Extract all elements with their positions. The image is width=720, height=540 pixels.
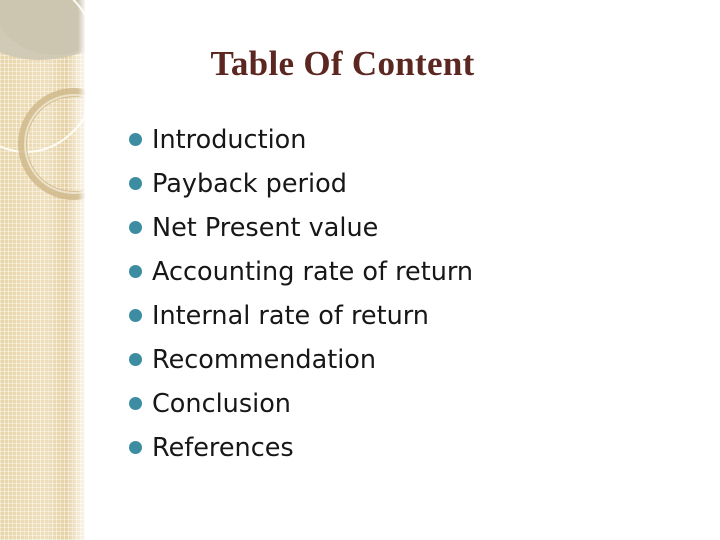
list-item-label: Conclusion	[152, 389, 291, 419]
band-edge-gradient	[78, 0, 85, 540]
page-title: Table Of Content	[85, 44, 720, 84]
bullet-dot-icon	[129, 265, 142, 278]
list-item[interactable]: References	[126, 426, 686, 470]
list-item-label: Introduction	[152, 125, 306, 155]
list-item[interactable]: Conclusion	[126, 382, 686, 426]
bullet-dot-icon	[129, 397, 142, 410]
list-item-label: Internal rate of return	[152, 301, 429, 331]
list-item-label: References	[152, 433, 294, 463]
list-item-label: Recommendation	[152, 345, 376, 375]
bullet-dot-icon	[129, 221, 142, 234]
bullet-dot-icon	[129, 177, 142, 190]
list-item-label: Payback period	[152, 169, 347, 199]
bullet-dot-icon	[129, 133, 142, 146]
bullet-dot-icon	[129, 441, 142, 454]
list-item[interactable]: Net Present value	[126, 206, 686, 250]
list-item[interactable]: Payback period	[126, 162, 686, 206]
list-item-label: Accounting rate of return	[152, 257, 473, 287]
list-item[interactable]: Introduction	[126, 118, 686, 162]
slide-side-decoration	[0, 0, 85, 540]
list-item[interactable]: Accounting rate of return	[126, 250, 686, 294]
bullet-dot-icon	[129, 309, 142, 322]
list-item-label: Net Present value	[152, 213, 378, 243]
bullet-dot-icon	[129, 353, 142, 366]
list-item[interactable]: Recommendation	[126, 338, 686, 382]
slide-canvas: Table Of Content Introduction Payback pe…	[0, 0, 720, 540]
list-item[interactable]: Internal rate of return	[126, 294, 686, 338]
table-of-contents-list: Introduction Payback period Net Present …	[126, 118, 686, 470]
